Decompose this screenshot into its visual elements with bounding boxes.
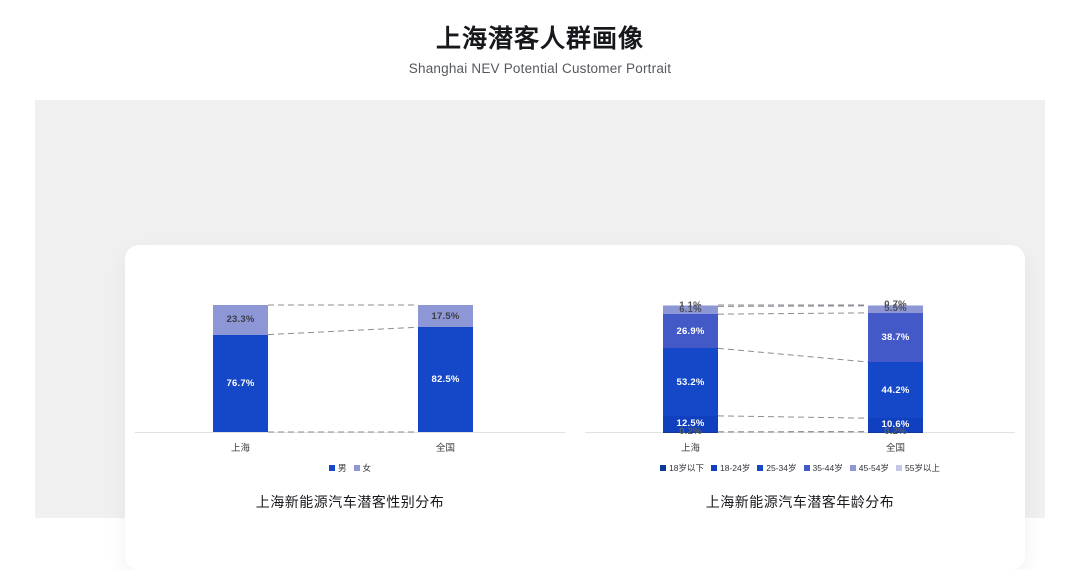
legend-item-18岁以下[interactable]: 18岁以下 <box>660 462 704 474</box>
legend-label: 男 <box>338 462 347 474</box>
segment-age-上海-25-34岁[interactable]: 53.2% <box>663 348 718 416</box>
content-panel: 23.3%76.7%上海17.5%82.5%全国男女上海新能源汽车潜客性别分布1… <box>35 100 1045 518</box>
x-axis-line <box>585 432 1015 433</box>
segment-label: 53.2% <box>677 377 705 388</box>
segment-label: 17.5% <box>432 311 460 322</box>
segment-label: 0.2% <box>679 426 701 437</box>
legend-swatch-icon <box>757 465 763 471</box>
legend-swatch-icon <box>354 465 360 471</box>
segment-label: 0.2% <box>884 426 906 437</box>
bar-age-上海[interactable]: 1.1%6.1%26.9%53.2%12.5%0.2% <box>663 305 718 432</box>
segment-age-全国-25-34岁[interactable]: 44.2% <box>868 362 923 418</box>
x-axis-line <box>135 432 565 433</box>
plot-area-gender: 23.3%76.7%上海17.5%82.5%全国 <box>125 245 575 570</box>
legend-label: 女 <box>363 462 372 474</box>
legend-swatch-icon <box>896 465 902 471</box>
chart-caption-age: 上海新能源汽车潜客年龄分布 <box>575 492 1025 512</box>
segment-label: 23.3% <box>227 314 255 325</box>
legend-item-男[interactable]: 男 <box>329 462 347 474</box>
page-root: 上海潜客人群画像 Shanghai NEV Potential Customer… <box>0 0 1080 547</box>
page-subtitle: Shanghai NEV Potential Customer Portrait <box>0 58 1080 80</box>
segment-age-全国-35-44岁[interactable]: 38.7% <box>868 313 923 362</box>
segment-age-上海-35-44岁[interactable]: 26.9% <box>663 314 718 348</box>
legend-swatch-icon <box>711 465 717 471</box>
segment-gender-上海-男[interactable]: 76.7% <box>213 335 268 432</box>
segment-label: 82.5% <box>432 374 460 385</box>
legend-swatch-icon <box>329 465 335 471</box>
legend-label: 55岁以上 <box>905 462 940 474</box>
connector-lines <box>575 245 1025 570</box>
legend-label: 18-24岁 <box>720 462 750 474</box>
legend-swatch-icon <box>850 465 856 471</box>
page-title: 上海潜客人群画像 <box>0 22 1080 56</box>
legend-item-35-44岁[interactable]: 35-44岁 <box>804 462 843 474</box>
legend-label: 45-54岁 <box>859 462 889 474</box>
x-axis-label-全国: 全国 <box>418 440 473 454</box>
segment-label: 26.9% <box>677 326 705 337</box>
legend-item-45-54岁[interactable]: 45-54岁 <box>850 462 889 474</box>
x-axis-label-上海: 上海 <box>213 440 268 454</box>
legend-item-女[interactable]: 女 <box>354 462 372 474</box>
page-header: 上海潜客人群画像 Shanghai NEV Potential Customer… <box>0 22 1080 80</box>
legend-swatch-icon <box>660 465 666 471</box>
segment-gender-全国-男[interactable]: 82.5% <box>418 327 473 432</box>
legend-label: 25-34岁 <box>766 462 796 474</box>
chart-gender: 23.3%76.7%上海17.5%82.5%全国男女上海新能源汽车潜客性别分布 <box>125 245 575 570</box>
bar-age-全国[interactable]: 0.7%5.5%38.7%44.2%10.6%0.2% <box>868 305 923 432</box>
legend-item-18-24岁[interactable]: 18-24岁 <box>711 462 750 474</box>
legend-label: 18岁以下 <box>669 462 704 474</box>
bar-gender-全国[interactable]: 17.5%82.5% <box>418 305 473 432</box>
bar-gender-上海[interactable]: 23.3%76.7% <box>213 305 268 432</box>
segment-age-全国-45-54岁[interactable]: 5.5% <box>868 306 923 313</box>
segment-gender-全国-女[interactable]: 17.5% <box>418 305 473 327</box>
segment-label: 38.7% <box>882 332 910 343</box>
charts-card: 23.3%76.7%上海17.5%82.5%全国男女上海新能源汽车潜客性别分布1… <box>125 245 1025 570</box>
x-axis-label-全国: 全国 <box>868 440 923 454</box>
plot-area-age: 1.1%6.1%26.9%53.2%12.5%0.2%上海0.7%5.5%38.… <box>575 245 1025 570</box>
chart-caption-gender: 上海新能源汽车潜客性别分布 <box>125 492 575 512</box>
legend-gender: 男女 <box>125 462 575 474</box>
legend-label: 35-44岁 <box>813 462 843 474</box>
legend-item-55岁以上[interactable]: 55岁以上 <box>896 462 940 474</box>
legend-age: 18岁以下18-24岁25-34岁35-44岁45-54岁55岁以上 <box>575 462 1025 474</box>
segment-label: 44.2% <box>882 385 910 396</box>
legend-item-25-34岁[interactable]: 25-34岁 <box>757 462 796 474</box>
legend-swatch-icon <box>804 465 810 471</box>
segment-age-上海-45-54岁[interactable]: 6.1% <box>663 306 718 314</box>
chart-age: 1.1%6.1%26.9%53.2%12.5%0.2%上海0.7%5.5%38.… <box>575 245 1025 570</box>
segment-label: 76.7% <box>227 378 255 389</box>
charts-container: 23.3%76.7%上海17.5%82.5%全国男女上海新能源汽车潜客性别分布1… <box>125 245 1025 570</box>
x-axis-label-上海: 上海 <box>663 440 718 454</box>
segment-gender-上海-女[interactable]: 23.3% <box>213 305 268 335</box>
connector-lines <box>125 245 575 570</box>
